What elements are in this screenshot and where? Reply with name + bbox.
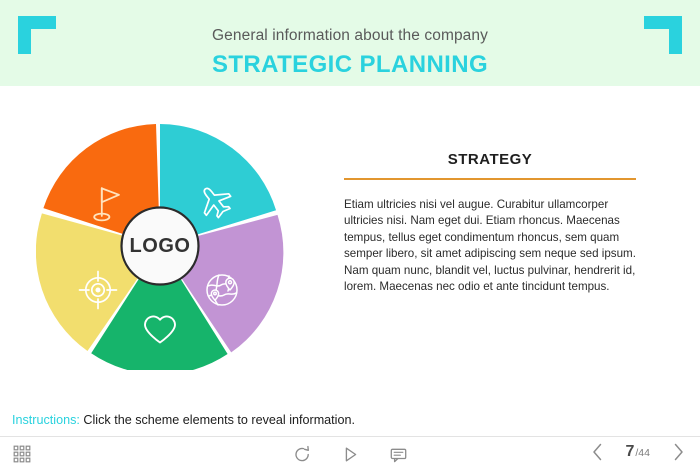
total-page-count: /44	[635, 447, 650, 459]
current-page-number: 7	[625, 443, 634, 461]
slide-root: General information about the company ST…	[0, 0, 700, 470]
instructions-bar: Instructions: Click the scheme elements …	[12, 411, 355, 429]
panel-body-text: Etiam ultricies nisi vel augue. Curabitu…	[344, 197, 636, 295]
play-icon[interactable]	[339, 443, 361, 465]
player-toolbar: 7 /44	[0, 436, 700, 470]
header-subtitle: General information about the company	[0, 26, 700, 46]
comment-icon[interactable]	[387, 443, 409, 465]
pagination-controls: 7 /44	[589, 442, 686, 462]
strategy-panel: STRATEGY Etiam ultricies nisi vel augue.…	[344, 150, 636, 295]
chevron-left-icon[interactable]	[589, 442, 605, 462]
wheel-center-logo[interactable]	[122, 208, 199, 285]
replay-icon[interactable]	[291, 443, 313, 465]
instructions-label: Instructions:	[12, 413, 80, 427]
panel-divider	[344, 178, 636, 180]
slide-header: General information about the company ST…	[0, 0, 700, 86]
page-indicator: 7 /44	[625, 443, 650, 461]
strategy-wheel[interactable]: LOGO	[36, 122, 284, 370]
header-title: STRATEGIC PLANNING	[0, 50, 700, 80]
header-text-block: General information about the company ST…	[0, 26, 700, 80]
panel-title: STRATEGY	[344, 150, 636, 170]
instructions-text: Click the scheme elements to reveal info…	[83, 413, 355, 427]
chevron-right-icon[interactable]	[670, 442, 686, 462]
